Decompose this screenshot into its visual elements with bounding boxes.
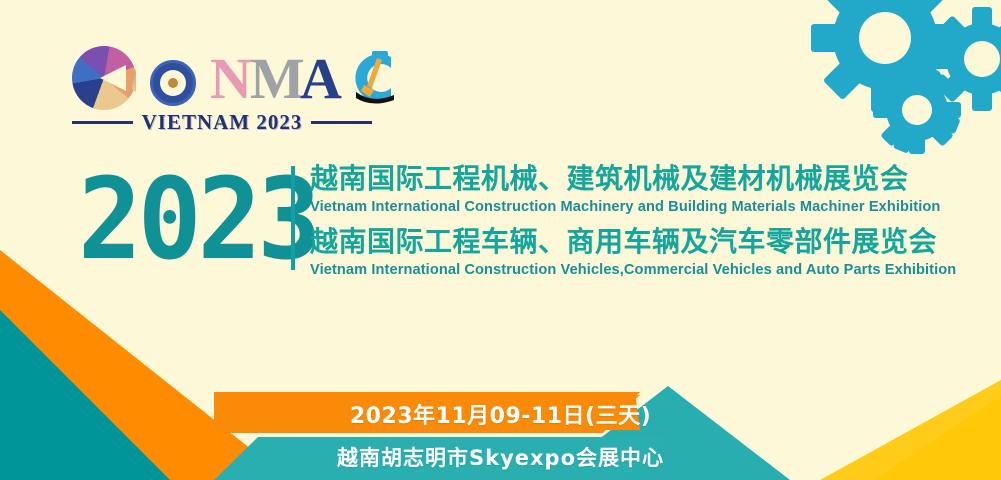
gears-decoration — [777, 0, 1001, 166]
title-line-1-en: Vietnam International Construction Machi… — [310, 197, 970, 217]
exhibition-poster: N M A VIETNAM 2023 2023 越南国际工程机械、建筑机械及建材… — [0, 0, 1001, 480]
logo-tagline-text: VIETNAM 2023 — [142, 110, 303, 135]
banner-date-shape-main — [214, 392, 640, 433]
logo-wheel-o-hub — [168, 78, 178, 88]
logo-wordmark: N M A — [72, 42, 372, 114]
logo-letter-a: A — [300, 50, 342, 108]
logo-letter-n: N — [210, 50, 252, 108]
title-line-1-cn: 越南国际工程机械、建筑机械及建材机械展览会 — [310, 162, 970, 196]
logo-tagline: VIETNAM 2023 — [72, 110, 372, 135]
logo: N M A VIETNAM 2023 — [72, 42, 372, 147]
logo-letter-m: M — [250, 50, 305, 108]
logo-wheel-o-icon — [150, 60, 196, 106]
title-block: 越南国际工程机械、建筑机械及建材机械展览会 Vietnam Internatio… — [310, 162, 970, 280]
title-divider — [291, 166, 295, 270]
title-spacer — [310, 217, 970, 225]
year-display: 2023 — [78, 163, 317, 275]
logo-wheel-o-ring — [160, 70, 186, 96]
logo-excavator-c-icon — [344, 48, 402, 108]
tagline-rule-left — [72, 121, 133, 124]
logo-pinwheel-c-icon — [72, 46, 136, 110]
tagline-rule-right — [311, 121, 372, 124]
title-line-2-en: Vietnam International Construction Vehic… — [310, 260, 970, 280]
banner-venue-shape — [214, 437, 668, 480]
title-line-2-cn: 越南国际工程车辆、商用车辆及汽车零部件展览会 — [310, 225, 970, 259]
gears-icon — [777, 0, 1001, 161]
